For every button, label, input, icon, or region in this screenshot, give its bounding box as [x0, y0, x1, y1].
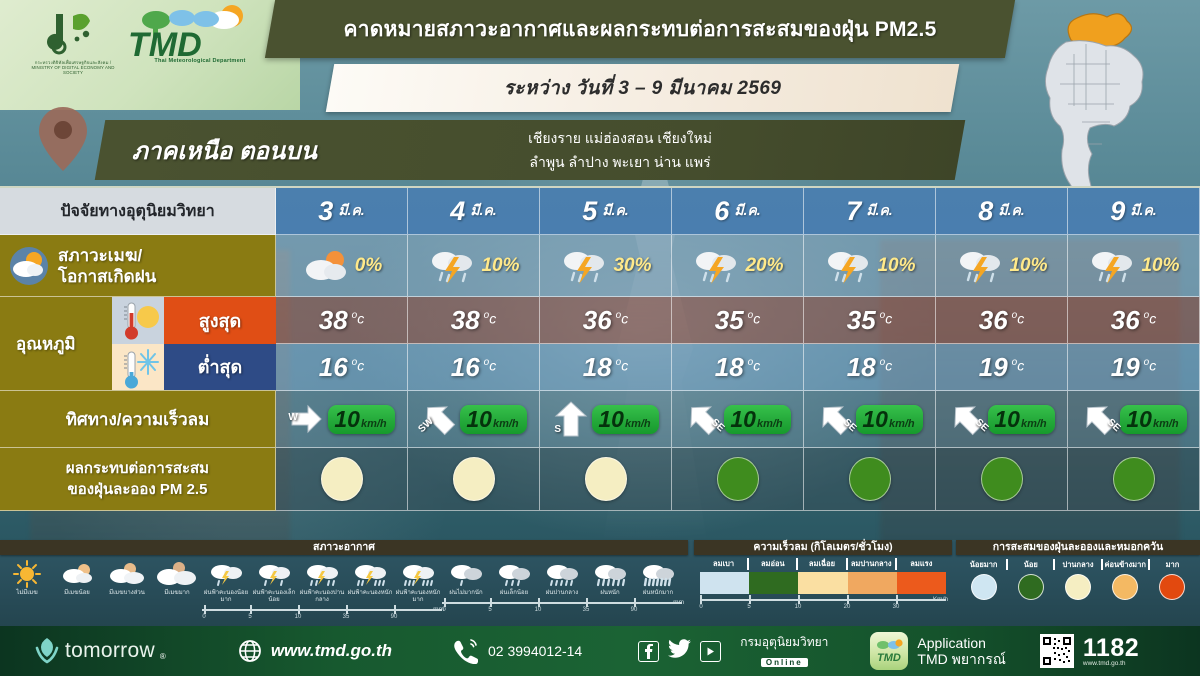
legend-wind-categories: ลมเบา ลมอ่อน ลมเฉื่อย ลมปานกลาง ลมแรง [694, 558, 952, 570]
arrow-up-left-icon: SE [1080, 398, 1118, 440]
temp-unit: oc [484, 357, 497, 374]
temp-high-cell-1: 38 oc [276, 297, 408, 344]
legend-wind-unit: Km/h [933, 596, 948, 603]
temp-low-cell-5: 18 oc [804, 344, 936, 391]
tomorrow-label: tomorrow [65, 639, 155, 663]
legend-pm25-item-5: มาก [1149, 559, 1196, 600]
legend-pm25-item-1: น้อยมาก [960, 559, 1007, 600]
storm-vheavy-icon [394, 559, 442, 589]
rain-chance: 0% [355, 255, 382, 277]
temp-unit: oc [352, 357, 365, 374]
legend-wind-cat: ลมเฉื่อย [798, 558, 847, 570]
twitter-icon[interactable] [668, 639, 691, 664]
rain-chance: 10% [1141, 255, 1179, 277]
legend-storm-label: ฝนฟ้าคะนองหนักมาก [394, 590, 442, 604]
day-month: มี.ค. [338, 200, 364, 222]
legend-pm25-label: ปานกลาง [1054, 559, 1101, 571]
rain-chance: 30% [613, 255, 651, 277]
row-label-pm25: ผลกระทบต่อการสะสม ของฝุ่นละออง PM 2.5 [0, 448, 276, 511]
temp-high-value: 38 [319, 305, 348, 336]
row-label-sky-line1: สภาวะเมฆ/ [58, 245, 156, 266]
storm-heavy-icon [346, 559, 394, 589]
phone-icon [452, 638, 478, 664]
legend-cloud-item-2: มีเมฆน้อย [52, 559, 102, 621]
day-number: 7 [846, 196, 861, 227]
legend-wind-colorbar [700, 572, 946, 594]
arrow-up-left-icon: SE [816, 398, 854, 440]
legend-rain-item-1: ฝนไม่มากนัก [442, 559, 490, 597]
legend-weather: สภาวะอากาศ ไม่มีเมฆ [0, 540, 688, 621]
legend-wind-title: ความเร็วลม (กิโลเมตร/ชั่วโมง) [694, 540, 952, 555]
day-header-4: 6 มี.ค. [672, 188, 804, 235]
temp-unit: oc [352, 310, 365, 327]
temp-high-cell-4: 35 oc [672, 297, 804, 344]
main-title-bar: คาดหมายสภาวะอากาศและผลกระทบต่อการสะสมของ… [265, 0, 1015, 58]
department-brand: กรมอุตุนิยมวิทยา Online [740, 633, 828, 670]
legend-storm-item-5: ฝนฟ้าคะนองหนักมาก [394, 559, 442, 604]
ministry-logo: กระทรวงดิจิทัลเพื่อเศรษฐกิจและสังคม / MI… [26, 8, 120, 86]
wind-speed-value: 10 [730, 408, 756, 431]
legend-pm25-dot [1112, 574, 1138, 600]
legend-storm-tick: 10 [295, 614, 302, 620]
hotline-number: 1182 [1083, 636, 1139, 660]
temp-unit: oc [1012, 310, 1025, 327]
day-number: 9 [1110, 196, 1125, 227]
temp-low-value: 18 [715, 352, 744, 383]
legend-wind-tick: 20 [844, 604, 851, 610]
legend-storm-tick: 5 [248, 614, 251, 620]
sky-cell-5: 10% [804, 235, 936, 297]
legend-pm25-label: ค่อนข้างมาก [1102, 559, 1149, 571]
pm25-cell-5 [804, 448, 936, 511]
legend-pm25-dot [971, 574, 997, 600]
legend-wind-swatch [897, 572, 946, 594]
wind-direction: S [554, 424, 561, 435]
wind-cell-1: W 10 km/h [276, 391, 408, 448]
thermometer-cold-icon [112, 344, 164, 391]
wind-speed-value: 10 [1126, 408, 1152, 431]
pm25-cell-3 [540, 448, 672, 511]
legend-storm-tick: 35 [343, 614, 350, 620]
thailand-map [980, 0, 1200, 186]
legend-rain-label: ฝนหนักมาก [634, 590, 682, 597]
partly-cloudy-icon [102, 559, 152, 589]
legend-storm-item-4: ฝนฟ้าคะนองหนัก [346, 559, 394, 604]
sky-cell-7: 10% [1068, 235, 1200, 297]
legend-rain-item-2: ฝนเล็กน้อย [490, 559, 538, 597]
app-promo[interactable]: TMD Application TMD พยากรณ์ [870, 632, 1006, 670]
website-url: www.tmd.go.th [271, 641, 392, 661]
sky-cell-4: 20% [672, 235, 804, 297]
legend-wind-swatch [848, 572, 897, 594]
wind-direction: W [288, 412, 297, 423]
date-range-bar: ระหว่าง วันที่ 3 – 9 มีนาคม 2569 [326, 64, 959, 112]
sky-cell-2: 10% [408, 235, 540, 297]
legend-cloud-label: ไม่มีเมฆ [2, 590, 52, 597]
wind-speed-pill: 10 km/h [1120, 405, 1186, 434]
row-label-temp-high: สูงสุด [164, 297, 276, 344]
legend-rain-label: ฝนเล็กน้อย [490, 590, 538, 597]
temp-unit: oc [880, 310, 893, 327]
temp-high-value: 35 [847, 305, 876, 336]
legend-rain-item-4: ฝนหนัก [586, 559, 634, 597]
legend-pm25-dot [1065, 574, 1091, 600]
temp-low-cell-6: 19 oc [936, 344, 1068, 391]
legend-weather-title: สภาวะอากาศ [0, 540, 688, 555]
temp-unit: oc [1144, 357, 1157, 374]
legend-storm-item-3: ฝนฟ้าคะนองปานกลาง [298, 559, 346, 604]
temp-high-cell-7: 36 oc [1068, 297, 1200, 344]
region-name: ภาคเหนือ ตอนบน [132, 131, 317, 170]
sky-cell-1: 0% [276, 235, 408, 297]
temp-unit: oc [748, 310, 761, 327]
rain-heavy-icon [586, 559, 634, 589]
legend-wind-cat: ลมอ่อน [749, 558, 798, 570]
youtube-icon[interactable] [700, 641, 721, 662]
temp-low-cell-1: 16 oc [276, 344, 408, 391]
pm25-cell-2 [408, 448, 540, 511]
legend-pm25: การสะสมของฝุ่นละอองและหมอกควัน น้อยมาก น… [956, 540, 1200, 600]
footer-bar: tomorrow ® www.tmd.go.th 02 3994012-14 [0, 626, 1200, 676]
wind-speed-unit: km/h [625, 418, 651, 430]
legend-storm-label: ฝนฟ้าคะนองเล็กน้อย [250, 590, 298, 604]
legend-rain-item-3: ฝนปานกลาง [538, 559, 586, 597]
temp-unit: oc [880, 357, 893, 374]
legend-wind-swatch [700, 572, 749, 594]
legend-wind-swatch [798, 572, 847, 594]
legend-rain-tick: 10 [535, 607, 542, 613]
arrow-up-right-icon: SW [420, 398, 458, 440]
legend-wind-tick: 10 [795, 604, 802, 610]
temp-low-value: 16 [451, 352, 480, 383]
social-links: กรมอุตุนิยมวิทยา Online [638, 633, 828, 670]
qr-code-icon [1040, 634, 1074, 668]
logo-panel: กระทรวงดิจิทัลเพื่อเศรษฐกิจและสังคม / MI… [0, 0, 300, 110]
legend-rain-label: ฝนไม่มากนัก [442, 590, 490, 597]
day-header-2: 4 มี.ค. [408, 188, 540, 235]
ministry-logo-caption: กระทรวงดิจิทัลเพื่อเศรษฐกิจและสังคม / MI… [27, 60, 119, 76]
wind-cell-4: SE 10 km/h [672, 391, 804, 448]
legend-pm25-label: น้อยมาก [960, 559, 1007, 571]
wind-speed-unit: km/h [493, 418, 519, 430]
legend-rain-tick: 5 [488, 607, 491, 613]
province-line-1: เชียงราย แม่ฮ่องสอน เชียงใหม่ [430, 126, 810, 150]
wind-speed-value: 10 [994, 408, 1020, 431]
legend-rain-tick: 90 [631, 607, 638, 613]
temp-high-value: 36 [583, 305, 612, 336]
wind-cell-7: SE 10 km/h [1068, 391, 1200, 448]
thermometer-icons [112, 297, 164, 390]
temp-high-value: 36 [979, 305, 1008, 336]
tomorrow-brand: tomorrow ® [34, 636, 166, 666]
row-label-temperature: อุณหภูมิ [0, 297, 276, 391]
wind-speed-value: 10 [862, 408, 888, 431]
legend-wind: ความเร็วลม (กิโลเมตร/ชั่วโมง) ลมเบา ลมอ่… [694, 540, 952, 611]
region-bar: ภาคเหนือ ตอนบน เชียงราย แม่ฮ่องสอน เชียง… [95, 120, 966, 180]
arrow-up-icon: S [552, 398, 590, 440]
legend-wind-cat: ลมแรง [897, 558, 946, 570]
thunderstorm-rain-icon [823, 244, 875, 288]
temp-unit: oc [484, 310, 497, 327]
legend-pm25-item-3: ปานกลาง [1054, 559, 1101, 600]
thailand-map-icon [1008, 4, 1178, 186]
temp-unit: oc [1012, 357, 1025, 374]
wind-speed-unit: km/h [757, 418, 783, 430]
pm25-cell-1 [276, 448, 408, 511]
sun-icon [2, 559, 52, 589]
svg-text:TMD: TMD [877, 652, 901, 664]
day-month: มี.ค. [866, 200, 892, 222]
row-label-pm25-line2: ของฝุ่นละออง PM 2.5 [66, 479, 209, 500]
day-number: 6 [714, 196, 729, 227]
app-label-line2: TMD พยากรณ์ [917, 651, 1006, 667]
app-label-line1: Application [917, 635, 1006, 651]
day-month: มี.ค. [470, 200, 496, 222]
day-month: มี.ค. [734, 200, 760, 222]
phone-number: 02 3994012-14 [488, 643, 582, 659]
wind-speed-unit: km/h [361, 418, 387, 430]
temp-unit: oc [1144, 310, 1157, 327]
pm25-status-dot [981, 457, 1023, 501]
legend-cloud-item-1: ไม่มีเมฆ [2, 559, 52, 621]
thunderstorm-rain-icon [559, 244, 611, 288]
pm25-status-dot [849, 457, 891, 501]
svg-text:TMD: TMD [128, 26, 202, 60]
thermometer-hot-glyph [112, 297, 164, 344]
day-header-7: 9 มี.ค. [1068, 188, 1200, 235]
rain-chance: 10% [1009, 255, 1047, 277]
day-month: มี.ค. [998, 200, 1024, 222]
temp-low-cell-3: 18 oc [540, 344, 672, 391]
sun-small-cloud-icon [52, 559, 102, 589]
legend-pm25-item-4: ค่อนข้างมาก [1102, 559, 1149, 600]
globe-icon [238, 639, 262, 663]
forecast-table: ปัจจัยทางอุตุนิยมวิทยา 3 มี.ค. 4 มี.ค. 5… [0, 186, 1200, 540]
thunderstorm-rain-icon [427, 244, 479, 288]
thunderstorm-rain-icon [691, 244, 743, 288]
rain-light-icon [490, 559, 538, 589]
day-header-3: 5 มี.ค. [540, 188, 672, 235]
legend-pm25-item-2: น้อย [1007, 559, 1054, 600]
temp-high-cell-5: 35 oc [804, 297, 936, 344]
legend-rain-tick: 0 [442, 607, 445, 613]
legend-pm25-label: มาก [1149, 559, 1196, 571]
legend-wind-tick: 0 [699, 604, 702, 610]
sky-cell-6: 10% [936, 235, 1068, 297]
page-title: คาดหมายสภาวะอากาศและผลกระทบต่อการสะสมของ… [344, 13, 937, 46]
wind-speed-pill: 10 km/h [724, 405, 790, 434]
tmd-logo-icon: TMD [120, 4, 270, 60]
pm25-status-dot [585, 457, 627, 501]
temp-high-value: 35 [715, 305, 744, 336]
legend-cloud-item-4: มีเมฆมาก [152, 559, 202, 621]
map-pin-icon [38, 106, 88, 172]
ministry-emblem-icon [42, 8, 104, 58]
row-label-pm25-line1: ผลกระทบต่อการสะสม [66, 458, 209, 479]
row-label-sky-line2: โอกาสเกิดฝน [58, 266, 156, 287]
legend-wind-cat: ลมเบา [700, 558, 749, 570]
website-link[interactable]: www.tmd.go.th [238, 639, 392, 663]
legend-storm-tick: 0 [202, 614, 205, 620]
tomorrow-logo-icon [34, 636, 60, 666]
temp-low-value: 18 [583, 352, 612, 383]
wind-speed-unit: km/h [1153, 418, 1179, 430]
legend-cloud-label: มีเมฆมาก [152, 590, 202, 597]
legend-rain-item-5: ฝนหนักมาก [634, 559, 682, 597]
wind-speed-unit: km/h [889, 418, 915, 430]
wind-speed-unit: km/h [1021, 418, 1047, 430]
day-number: 5 [582, 196, 597, 227]
wind-cell-5: SE 10 km/h [804, 391, 936, 448]
rain-vlight-icon [442, 559, 490, 589]
wind-cell-3: S 10 km/h [540, 391, 672, 448]
legend-storm-label: ฝนฟ้าคะนองหนัก [346, 590, 394, 597]
mostly-cloudy-icon [152, 559, 202, 589]
wind-speed-pill: 10 km/h [328, 405, 394, 434]
phone-contact[interactable]: 02 3994012-14 [452, 638, 582, 664]
thermometer-hot-icon [112, 297, 164, 344]
storm-vlight-icon [202, 559, 250, 589]
legend-pm25-title: การสะสมของฝุ่นละอองและหมอกควัน [956, 540, 1200, 555]
temp-low-value: 18 [847, 352, 876, 383]
temp-low-value: 16 [319, 352, 348, 383]
tmd-logo: TMD Thai Meteorological Department [120, 4, 280, 92]
legend-cloud-label: มีเมฆบางส่วน [102, 590, 152, 597]
legend-pm25-dot [1159, 574, 1185, 600]
temp-high-cell-3: 36 oc [540, 297, 672, 344]
legend-storm-item-1: ฝนฟ้าคะนองน้อยมาก [202, 559, 250, 604]
day-number: 8 [978, 196, 993, 227]
table-corner-header: ปัจจัยทางอุตุนิยมวิทยา [0, 188, 276, 235]
legend-storm-scale: 0 5 10 35 90 mm [202, 605, 442, 621]
legend-strip: สภาวะอากาศ ไม่มีเมฆ [0, 540, 1200, 626]
row-label-temperature-text: อุณหภูมิ [16, 330, 76, 357]
province-list: เชียงราย แม่ฮ่องสอน เชียงใหม่ ลำพูน ลำปา… [430, 126, 810, 174]
temp-high-value: 38 [451, 305, 480, 336]
storm-moderate-icon [298, 559, 346, 589]
temp-low-cell-2: 16 oc [408, 344, 540, 391]
arrow-right-icon: W [288, 398, 326, 440]
wind-cell-6: SE 10 km/h [936, 391, 1068, 448]
pm25-cell-6 [936, 448, 1068, 511]
rain-moderate-icon [538, 559, 586, 589]
legend-rain-unit: mm [673, 599, 684, 606]
day-header-6: 8 มี.ค. [936, 188, 1068, 235]
facebook-icon[interactable] [638, 641, 659, 662]
day-number: 4 [450, 196, 465, 227]
legend-rain-scale: 0 5 10 35 90 mm [442, 598, 682, 614]
rain-chance: 10% [877, 255, 915, 277]
storm-light-icon [250, 559, 298, 589]
legend-wind-scale: 0 5 10 20 30 Km/h [700, 595, 946, 611]
day-number: 3 [318, 196, 333, 227]
temp-low-cell-4: 18 oc [672, 344, 804, 391]
tmd-app-icon: TMD [870, 632, 908, 670]
rain-chance: 20% [745, 255, 783, 277]
legend-rain-label: ฝนปานกลาง [538, 590, 586, 597]
day-header-1: 3 มี.ค. [276, 188, 408, 235]
legend-wind-tick: 5 [747, 604, 750, 610]
legend-cloud-item-3: มีเมฆบางส่วน [102, 559, 152, 621]
tomorrow-registered-mark: ® [160, 652, 166, 661]
wind-speed-pill: 10 km/h [988, 405, 1054, 434]
legend-rain-label: ฝนหนัก [586, 590, 634, 597]
legend-storm-label: ฝนฟ้าคะนองน้อยมาก [202, 590, 250, 604]
day-month: มี.ค. [1130, 200, 1156, 222]
legend-pm25-dot [1018, 574, 1044, 600]
legend-wind-cat: ลมปานกลาง [848, 558, 897, 570]
temp-unit: oc [748, 357, 761, 374]
legend-storm-label: ฝนฟ้าคะนองปานกลาง [298, 590, 346, 604]
rain-vheavy-icon [634, 559, 682, 589]
arrow-up-left-icon: SE [684, 398, 722, 440]
legend-cloud-label: มีเมฆน้อย [52, 590, 102, 597]
arrow-up-left-icon: SE [948, 398, 986, 440]
legend-wind-tick: 30 [893, 604, 900, 610]
wind-speed-value: 10 [598, 408, 624, 431]
row-label-sky: สภาวะเมฆ/ โอกาสเกิดฝน [0, 235, 276, 297]
legend-wind-swatch [749, 572, 798, 594]
wind-speed-value: 10 [466, 408, 492, 431]
legend-pm25-label: น้อย [1007, 559, 1054, 571]
temp-high-value: 36 [1111, 305, 1140, 336]
day-header-5: 7 มี.ค. [804, 188, 936, 235]
temp-low-value: 19 [979, 352, 1008, 383]
pm25-status-dot [1113, 457, 1155, 501]
partly-cloudy-sun-icon [301, 244, 353, 288]
thunderstorm-rain-icon [1087, 244, 1139, 288]
day-month: มี.ค. [602, 200, 628, 222]
temp-unit: oc [616, 357, 629, 374]
temp-low-cell-7: 19 oc [1068, 344, 1200, 391]
department-online-badge: Online [761, 658, 808, 667]
legend-rain-tick: 35 [583, 607, 590, 613]
wind-speed-pill: 10 km/h [460, 405, 526, 434]
pm25-cell-4 [672, 448, 804, 511]
province-line-2: ลำพูน ลำปาง พะเยา น่าน แพร่ [430, 150, 810, 174]
wind-speed-value: 10 [334, 408, 360, 431]
legend-storm-item-2: ฝนฟ้าคะนองเล็กน้อย [250, 559, 298, 604]
temp-unit: oc [616, 310, 629, 327]
department-name: กรมอุตุนิยมวิทยา [740, 633, 828, 652]
partly-cloudy-icon [8, 245, 50, 287]
rain-chance: 10% [481, 255, 519, 277]
pm25-status-dot [717, 457, 759, 501]
thunderstorm-rain-icon [955, 244, 1007, 288]
wind-speed-pill: 10 km/h [592, 405, 658, 434]
sky-cell-3: 30% [540, 235, 672, 297]
wind-speed-pill: 10 km/h [856, 405, 922, 434]
temp-high-cell-6: 36 oc [936, 297, 1068, 344]
thermometer-cold-glyph [112, 344, 164, 391]
pm25-status-dot [453, 457, 495, 501]
pm25-cell-7 [1068, 448, 1200, 511]
legend-storm-tick: 90 [391, 614, 398, 620]
hotline-block: 1182 www.tmd.go.th [1040, 634, 1139, 668]
date-range: ระหว่าง วันที่ 3 – 9 มีนาคม 2569 [504, 73, 782, 103]
infographic-page: กระทรวงดิจิทัลเพื่อเศรษฐกิจและสังคม / MI… [0, 0, 1200, 676]
row-label-wind: ทิศทาง/ความเร็วลม [0, 391, 276, 448]
pm25-status-dot [321, 457, 363, 501]
temp-low-value: 19 [1111, 352, 1140, 383]
temp-high-cell-2: 38 oc [408, 297, 540, 344]
row-label-temp-low: ต่ำสุด [164, 344, 276, 391]
wind-cell-2: SW 10 km/h [408, 391, 540, 448]
